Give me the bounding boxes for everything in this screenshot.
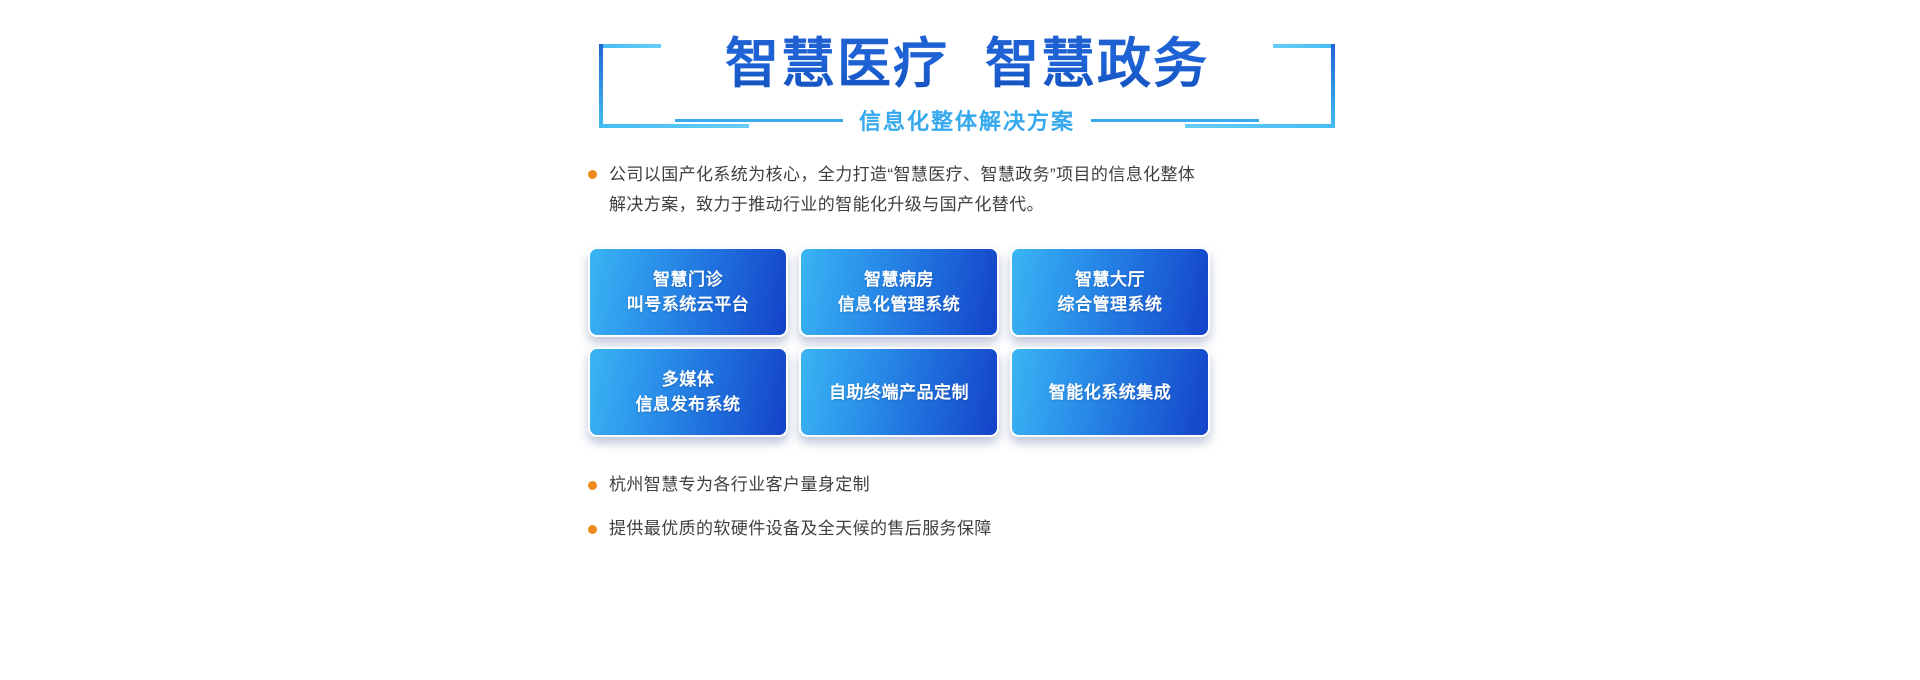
card-line-1: 多媒体: [662, 370, 715, 389]
list-item: 提供最优质的软硬件设备及全天候的售后服务保障: [588, 516, 1228, 542]
lead-paragraph: 公司以国产化系统为核心，全力打造“智慧医疗、智慧政务”项目的信息化整体解决方案，…: [588, 160, 1208, 220]
subtitle-rule-left: [675, 119, 843, 122]
card-line-2: 信息化管理系统: [838, 292, 961, 317]
card-line-2: 信息发布系统: [636, 392, 741, 417]
feature-bullet-list: 杭州智慧专为各行业客户量身定制 提供最优质的软硬件设备及全天候的售后服务保障: [588, 472, 1228, 560]
card-line-1: 智慧门诊: [653, 270, 723, 289]
title-part-2: 智慧政务: [985, 32, 1209, 96]
subtitle-rule-right: [1091, 119, 1259, 122]
card-label: 智慧门诊 叫号系统云平台: [619, 267, 758, 317]
list-item: 杭州智慧专为各行业客户量身定制: [588, 472, 1228, 498]
card-label: 多媒体 信息发布系统: [628, 367, 749, 417]
page-subtitle: 信息化整体解决方案: [859, 104, 1075, 136]
card-label: 自助终端产品定制: [821, 380, 977, 405]
card-line-1: 智慧病房: [864, 270, 934, 289]
solution-card[interactable]: 智能化系统集成: [1010, 347, 1210, 437]
solution-card[interactable]: 智慧门诊 叫号系统云平台: [588, 247, 788, 337]
bullet-dot-icon: [588, 525, 597, 534]
solution-card[interactable]: 自助终端产品定制: [799, 347, 999, 437]
banner-page: 智慧医疗智慧政务 信息化整体解决方案 公司以国产化系统为核心，全力打造“智慧医疗…: [0, 0, 1920, 680]
lead-paragraph-text: 公司以国产化系统为核心，全力打造“智慧医疗、智慧政务”项目的信息化整体解决方案，…: [609, 160, 1208, 220]
card-line-2: 叫号系统云平台: [627, 292, 750, 317]
title-block: 智慧医疗智慧政务 信息化整体解决方案: [587, 32, 1347, 142]
bullet-text: 杭州智慧专为各行业客户量身定制: [609, 472, 870, 498]
title-part-1: 智慧医疗: [725, 32, 949, 96]
bullet-text: 提供最优质的软硬件设备及全天候的售后服务保障: [609, 516, 992, 542]
solution-card[interactable]: 智慧大厅 综合管理系统: [1010, 247, 1210, 337]
solution-card[interactable]: 智慧病房 信息化管理系统: [799, 247, 999, 337]
bullet-dot-icon: [588, 170, 597, 179]
subtitle-row: 信息化整体解决方案: [587, 104, 1347, 136]
bullet-dot-icon: [588, 481, 597, 490]
card-line-1: 智慧大厅: [1075, 270, 1145, 289]
solution-card[interactable]: 多媒体 信息发布系统: [588, 347, 788, 437]
card-label: 智慧病房 信息化管理系统: [830, 267, 969, 317]
card-label: 智能化系统集成: [1041, 380, 1180, 405]
card-line-1: 智能化系统集成: [1049, 383, 1172, 402]
card-line-2: 综合管理系统: [1058, 292, 1163, 317]
content-area: 智慧医疗智慧政务 信息化整体解决方案 公司以国产化系统为核心，全力打造“智慧医疗…: [0, 0, 1920, 680]
solution-card-grid: 智慧门诊 叫号系统云平台 智慧病房 信息化管理系统 智慧大厅 综合管理系统 多媒…: [588, 247, 1210, 437]
card-label: 智慧大厅 综合管理系统: [1050, 267, 1171, 317]
page-title: 智慧医疗智慧政务: [587, 32, 1347, 96]
card-line-1: 自助终端产品定制: [829, 383, 969, 402]
